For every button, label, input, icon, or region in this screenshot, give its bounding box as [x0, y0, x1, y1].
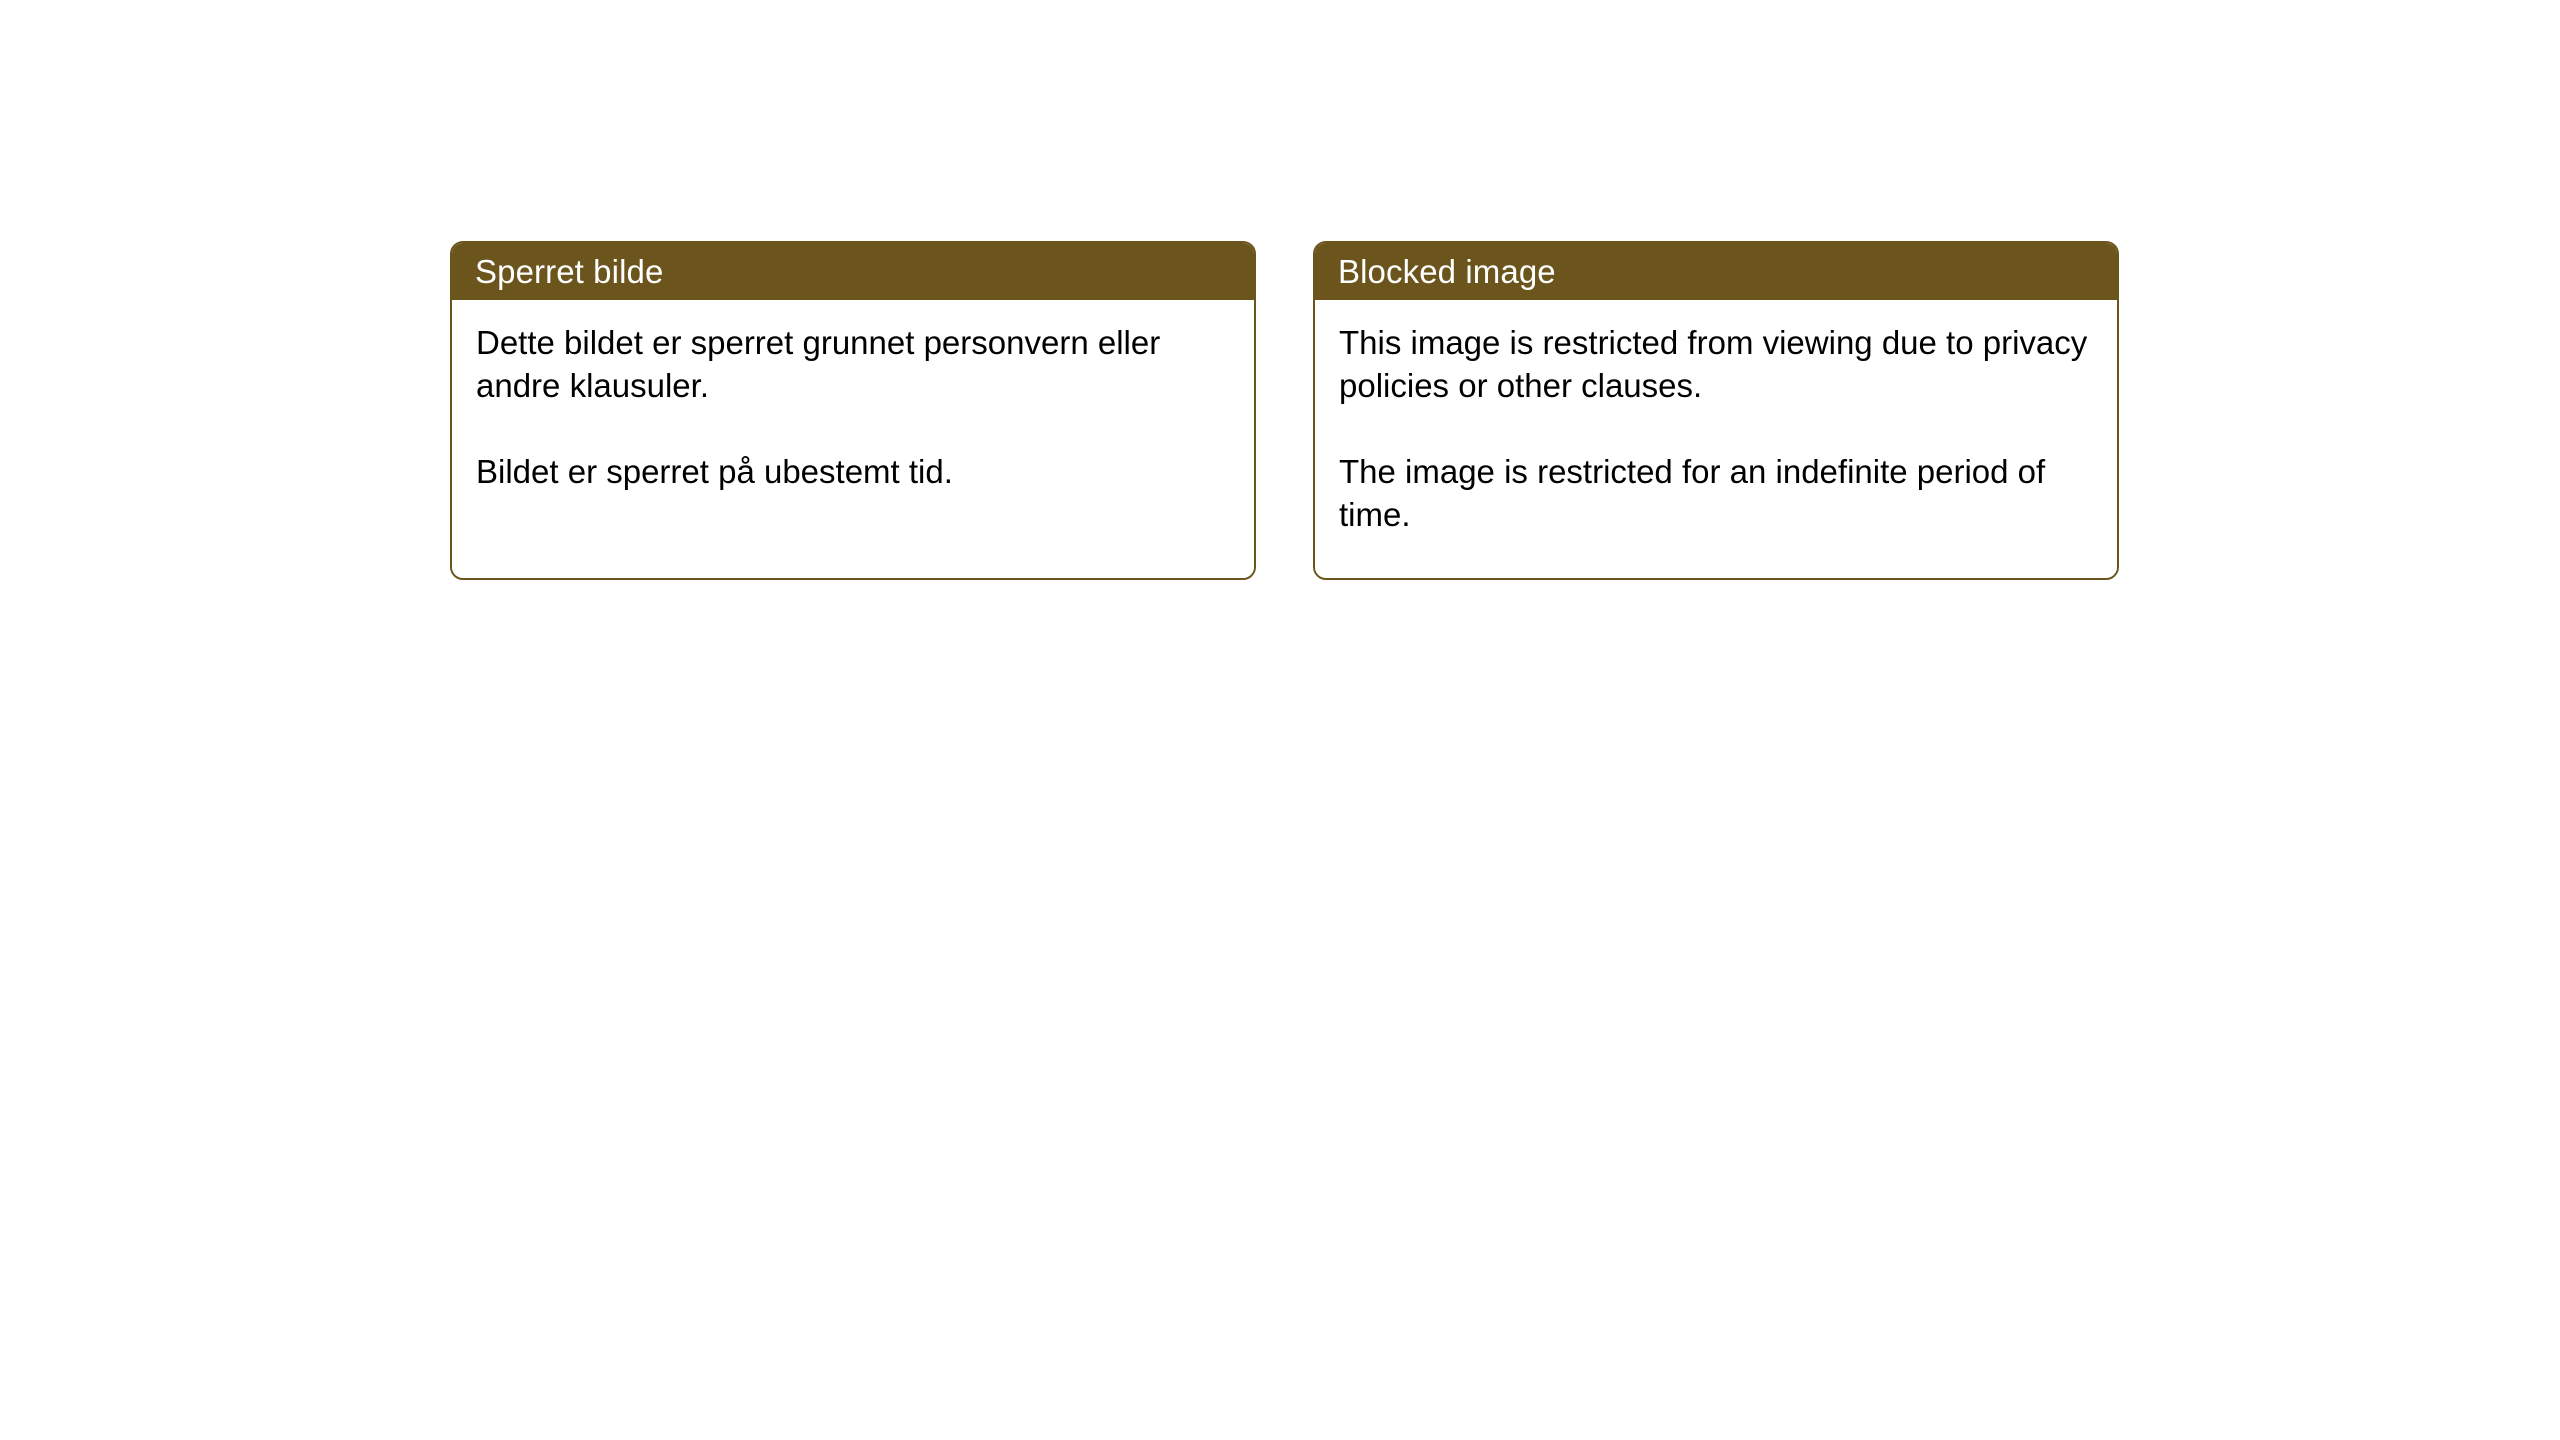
card-body-english: This image is restricted from viewing du…: [1315, 300, 2117, 578]
card-paragraph-secondary-norwegian: Bildet er sperret på ubestemt tid.: [476, 450, 1234, 493]
paragraph-spacer: [1339, 407, 2097, 450]
paragraph-spacer: [476, 407, 1234, 450]
blocked-image-card-english: Blocked image This image is restricted f…: [1313, 241, 2119, 580]
blocked-image-notice-group: Sperret bilde Dette bildet er sperret gr…: [450, 241, 2119, 580]
card-header-english: Blocked image: [1315, 243, 2117, 300]
page-root: Sperret bilde Dette bildet er sperret gr…: [0, 0, 2560, 1440]
card-header-norwegian: Sperret bilde: [452, 243, 1254, 300]
card-paragraph-primary-english: This image is restricted from viewing du…: [1339, 321, 2097, 407]
card-title-norwegian: Sperret bilde: [475, 254, 663, 290]
card-paragraph-primary-norwegian: Dette bildet er sperret grunnet personve…: [476, 321, 1234, 407]
card-body-norwegian: Dette bildet er sperret grunnet personve…: [452, 300, 1254, 578]
card-title-english: Blocked image: [1338, 254, 1556, 290]
blocked-image-card-norwegian: Sperret bilde Dette bildet er sperret gr…: [450, 241, 1256, 580]
card-paragraph-secondary-english: The image is restricted for an indefinit…: [1339, 450, 2097, 536]
